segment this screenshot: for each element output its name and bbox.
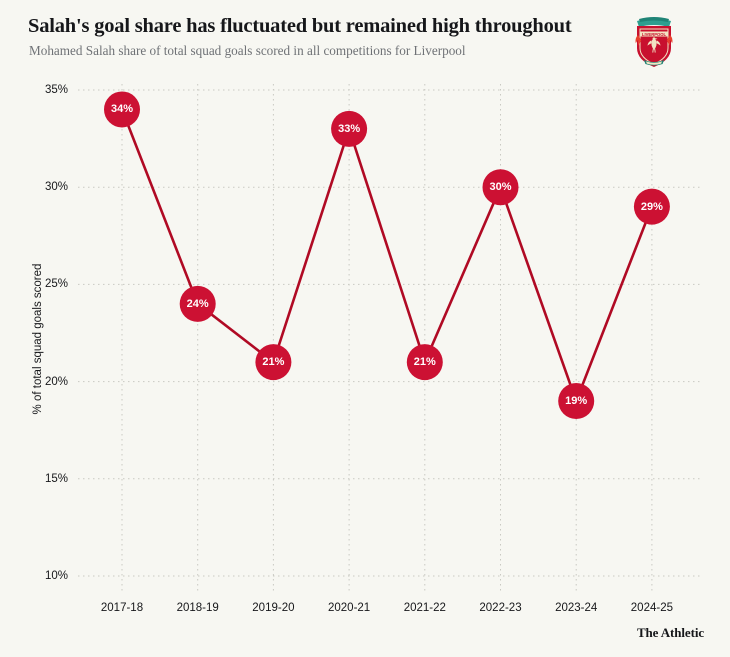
x-axis-tick-label: 2017-18 bbox=[82, 602, 162, 614]
data-point-marker[interactable] bbox=[255, 344, 291, 380]
data-point-marker[interactable] bbox=[180, 286, 216, 322]
y-axis-tick-label: 30% bbox=[26, 181, 68, 193]
chart-plot-area: 10%15%20%25%30%35% 2017-182018-192019-20… bbox=[0, 0, 730, 657]
source-credit: The Athletic bbox=[637, 625, 704, 641]
x-axis-tick-label: 2018-19 bbox=[158, 602, 238, 614]
y-axis-tick-label: 15% bbox=[26, 473, 68, 485]
x-axis-tick-label: 2023-24 bbox=[536, 602, 616, 614]
y-axis-title: % of total squad goals scored bbox=[32, 239, 44, 439]
data-point-marker[interactable] bbox=[331, 111, 367, 147]
x-axis-tick-label: 2022-23 bbox=[461, 602, 541, 614]
x-axis-tick-label: 2021-22 bbox=[385, 602, 465, 614]
series-polyline bbox=[122, 109, 652, 401]
series-markers bbox=[104, 91, 670, 419]
data-point-marker[interactable] bbox=[558, 383, 594, 419]
series-line bbox=[122, 109, 652, 401]
data-point-marker[interactable] bbox=[104, 91, 140, 127]
line-chart-svg bbox=[0, 0, 730, 657]
vertical-gridlines bbox=[122, 84, 652, 594]
y-axis-tick-label: 35% bbox=[26, 84, 68, 96]
x-axis-tick-label: 2020-21 bbox=[309, 602, 389, 614]
x-axis-tick-label: 2024-25 bbox=[612, 602, 692, 614]
data-point-marker[interactable] bbox=[634, 189, 670, 225]
y-axis-tick-label: 10% bbox=[26, 570, 68, 582]
x-axis-tick-label: 2019-20 bbox=[233, 602, 313, 614]
data-point-marker[interactable] bbox=[407, 344, 443, 380]
horizontal-gridlines bbox=[78, 90, 702, 576]
data-point-marker[interactable] bbox=[483, 169, 519, 205]
chart-page: Salah's goal share has fluctuated but re… bbox=[0, 0, 730, 657]
